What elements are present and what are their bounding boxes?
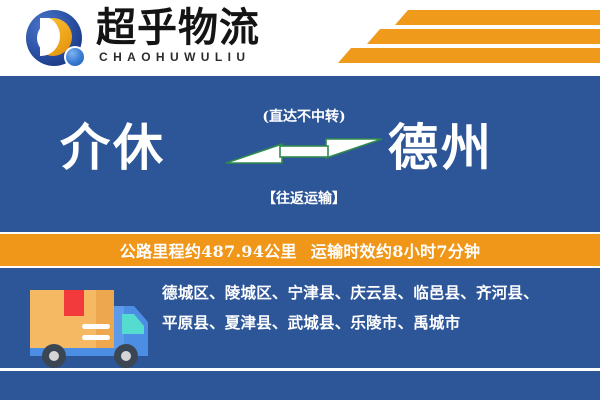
route-section: 介休 (直达不中转) 【往返运输】 德州	[0, 76, 600, 232]
logistics-route-banner: 超乎物流 CHAOHUWULIU 介休 (直达不中转) 【往返运输】	[0, 0, 600, 400]
header: 超乎物流 CHAOHUWULIU	[0, 0, 600, 76]
distance-label: 公路里程约487.94公里	[120, 238, 297, 262]
destination-city: 德州	[388, 110, 494, 186]
stripe-top	[395, 10, 600, 25]
origin-city: 介休	[60, 110, 166, 186]
stripe-bottom	[338, 48, 600, 63]
stripe-middle	[367, 29, 600, 44]
delivery-truck-icon	[26, 282, 158, 374]
route-middle: (直达不中转) 【往返运输】	[222, 106, 386, 216]
roundtrip-note: 【往返运输】	[222, 188, 386, 208]
brand-name-cn: 超乎物流	[96, 6, 260, 50]
coverage-line-1: 德城区、陵城区、宁津县、庆云县、临邑县、齐河县、	[162, 278, 586, 308]
brand-name-pinyin: CHAOHUWULIU	[99, 50, 250, 64]
double-arrow-icon	[224, 132, 384, 170]
duration-label: 运输时效约8小时7分钟	[311, 238, 481, 262]
coverage-line-2: 平原县、夏津县、武城县、乐陵市、禹城市	[162, 308, 586, 338]
decorative-stripes	[338, 6, 600, 70]
circle-crescent-logo-icon	[26, 10, 88, 68]
coverage-area-list: 德城区、陵城区、宁津县、庆云县、临邑县、齐河县、 平原县、夏津县、武城县、乐陵市…	[162, 278, 586, 338]
direct-note: (直达不中转)	[222, 106, 386, 126]
coverage-section: 德城区、陵城区、宁津县、庆云县、临邑县、齐河县、 平原县、夏津县、武城县、乐陵市…	[0, 268, 600, 400]
road-line	[0, 368, 600, 371]
logo-dot	[64, 46, 86, 68]
metrics-bar: 公路里程约487.94公里 运输时效约8小时7分钟	[0, 232, 600, 268]
